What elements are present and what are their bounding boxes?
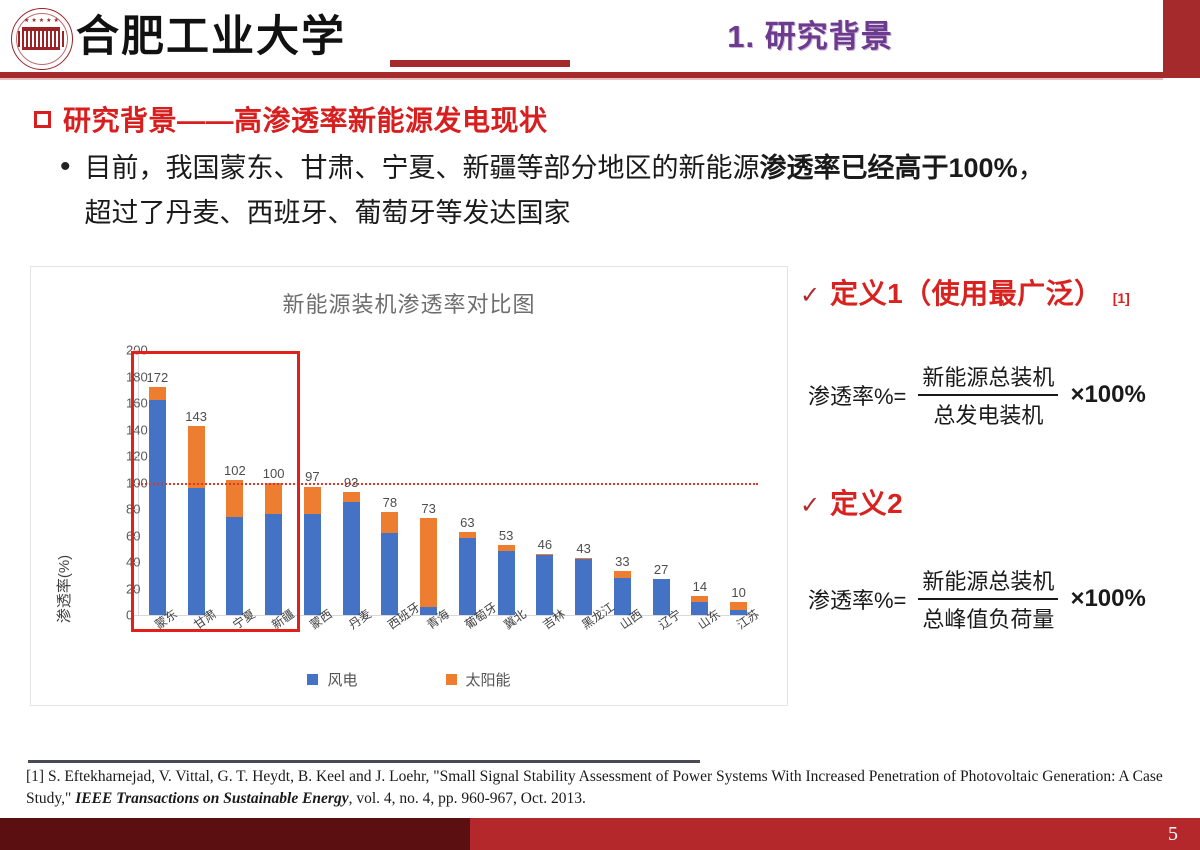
bullet-row: • 目前，我国蒙东、甘肃、宁夏、新疆等部分地区的新能源渗透率已经高于100%， … [60,146,1170,236]
chart-bar-segment-wind [381,533,398,615]
square-bullet-icon [34,111,51,128]
definition-2-block: ✓ 定义2 渗透率%= 新能源总装机 总峰值负荷量 ×100% [800,482,1146,634]
section-heading: 研究背景——高渗透率新能源发电现状 [34,102,548,136]
chart-bar-segment-solar [459,532,476,539]
chart-bar-value-label: 10 [716,585,762,600]
chart-bar-segment-solar [304,487,321,515]
chart-bar-segment-wind [343,502,360,615]
slide-root: ★★★★★ 合肥工业大学 1. 研究背景 研究背景——高渗透率新能源发电现状 •… [0,0,1200,850]
definition-1-block: ✓ 定义1（使用最广泛） [1] 渗透率%= 新能源总装机 总发电装机 ×100… [800,272,1146,430]
footnote-reference: [1] S. Eftekharnejad, V. Vittal, G. T. H… [26,766,1166,810]
slide-footer: 5 [0,818,1200,850]
chart-y-axis-label: 渗透率(%) [53,509,74,669]
chart-bar-segment-wind [536,555,553,615]
chart-bar-segment-solar [498,545,515,552]
definition-1-numerator: 新能源总装机 [918,360,1058,394]
definition-2-heading: ✓ 定义2 [800,482,1146,522]
university-logo-icon: ★★★★★ [11,8,73,70]
definition-2-numerator: 新能源总装机 [918,564,1058,598]
footnote-divider [28,760,700,763]
definition-2-rhs: ×100% [1070,585,1145,613]
header-rule-shadow [0,78,1163,80]
definition-2-title: 定义2 [830,482,903,522]
chart-title: 新能源装机渗透率对比图 [31,287,787,319]
bullet-dot-icon: • [60,146,71,188]
chart-bar-segment-solar [730,602,747,610]
chart-legend-item: 风电 [307,669,357,690]
slide-header: ★★★★★ 合肥工业大学 1. 研究背景 [0,0,1200,78]
bullet-text-pre: 目前，我国蒙东、甘肃、宁夏、新疆等部分地区的新能源 [85,153,760,183]
chart-bar-segment-solar [420,518,437,607]
check-icon: ✓ [800,491,820,520]
chart-legend-swatch [446,674,457,685]
header-right-band [1163,0,1200,78]
definition-1-rhs: ×100% [1070,381,1145,409]
definition-2-denominator: 总峰值负荷量 [918,598,1058,634]
chart-legend-label: 风电 [327,669,357,690]
definition-2-lhs: 渗透率%= [808,583,906,615]
chart-bar-segment-wind [304,514,321,615]
chart-bar-segment-wind [498,551,515,615]
bullet-text-line2: 超过了丹麦、西班牙、葡萄牙等发达国家 [85,198,571,228]
university-name: 合肥工业大学 [76,6,406,68]
chart-bar-value-label: 27 [638,562,684,577]
chart-bar-segment-wind [459,538,476,615]
section-heading-text: 研究背景——高渗透率新能源发电现状 [63,99,548,139]
footnote-part-2: , vol. 4, no. 4, pp. 960-967, Oct. 2013. [349,790,586,807]
chart-legend-item: 太阳能 [446,669,511,690]
logo-bar-bottom [22,47,60,50]
bullet-paragraph: 目前，我国蒙东、甘肃、宁夏、新疆等部分地区的新能源渗透率已经高于100%， 超过… [85,146,1045,236]
chart-legend: 风电太阳能 [31,669,787,690]
logo-stripes [18,31,64,47]
chart-panel: 新能源装机渗透率对比图 渗透率(%) 172143102100979378736… [30,266,788,706]
chart-legend-swatch [307,674,318,685]
definition-1-heading: ✓ 定义1（使用最广泛） [1] [800,272,1146,312]
page-number: 5 [1168,818,1178,850]
chart-legend-label: 太阳能 [466,669,511,690]
footnote-journal: IEEE Transactions on Sustainable Energy [75,790,348,807]
definition-1-superscript: [1] [1113,290,1130,306]
slide-title: 1. 研究背景 [600,14,1020,60]
bullet-text-bold: 渗透率已经高于100% [760,153,1018,183]
definition-1-title: 定义1（使用最广泛） [830,272,1103,312]
chart-bar-segment-solar [691,596,708,601]
definition-1-fraction: 新能源总装机 总发电装机 [910,360,1066,430]
chart-bar-segment-solar [614,571,631,578]
definition-2-formula: 渗透率%= 新能源总装机 总峰值负荷量 ×100% [808,564,1146,634]
footer-dark-block [0,818,470,850]
check-icon: ✓ [800,281,820,310]
chart-bar-segment-solar [536,554,553,555]
bullet-block: • 目前，我国蒙东、甘肃、宁夏、新疆等部分地区的新能源渗透率已经高于100%， … [60,146,1170,236]
chart-bar-segment-solar [575,558,592,559]
chart-bar-segment-solar [381,512,398,533]
definition-2-fraction: 新能源总装机 总峰值负荷量 [910,564,1066,634]
chart-highlight-box [131,351,300,632]
definition-1-denominator: 总发电装机 [918,394,1058,430]
definition-1-formula: 渗透率%= 新能源总装机 总发电装机 ×100% [808,360,1146,430]
chart-bar-segment-solar [343,492,360,503]
bullet-text-post: ， [1018,153,1045,183]
header-underline [390,60,570,67]
definition-1-lhs: 渗透率%= [808,379,906,411]
chart-bar-segment-wind [575,559,592,615]
logo-arc-text: ★★★★★ [24,16,58,26]
